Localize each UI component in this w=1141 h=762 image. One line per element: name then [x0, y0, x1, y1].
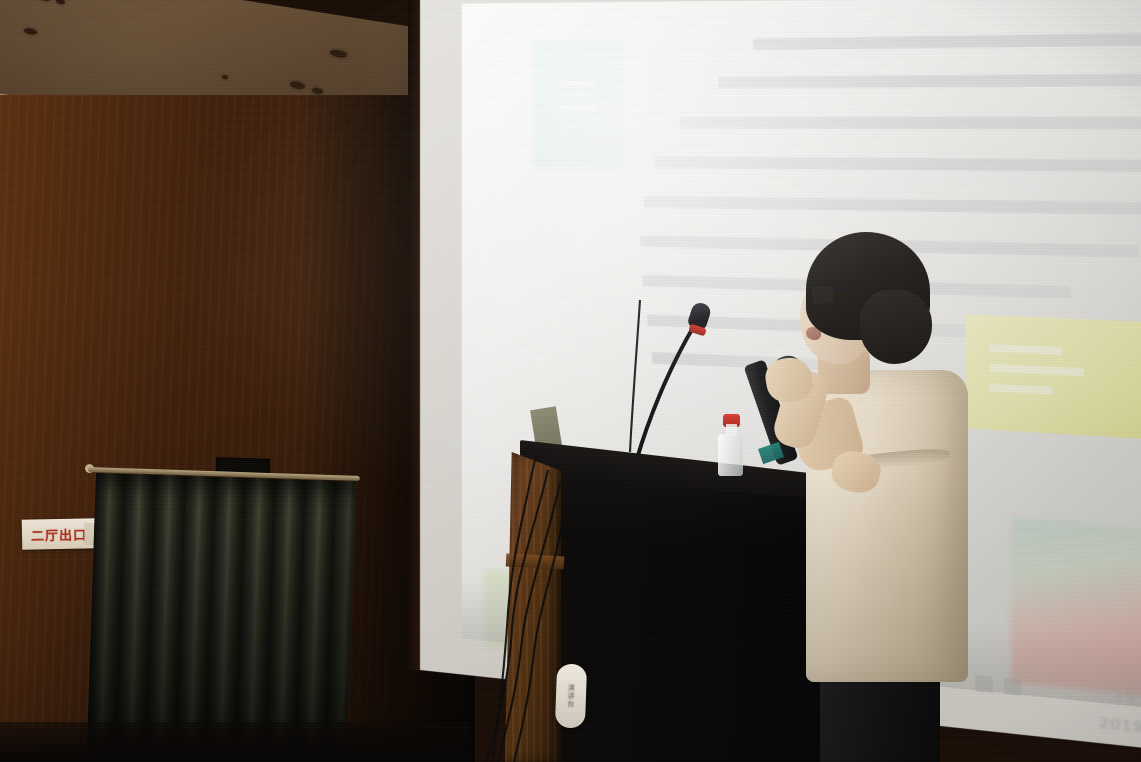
floor-shadow: [0, 722, 470, 762]
slide-text-line: [680, 117, 1141, 130]
slide-yellow-highlight: [966, 314, 1141, 439]
slide-yellow-bar: [989, 384, 1052, 395]
curtain-shading: [86, 473, 355, 762]
lecture-hall-photo: 二厅出口: [0, 0, 1141, 762]
slide-title-badge: [535, 41, 623, 167]
speaker-glasses: [809, 283, 837, 306]
water-bottle: [718, 434, 743, 476]
slide-text-line: [654, 156, 1141, 172]
slide-badge-bar: [562, 93, 591, 98]
podium-emblem-plaque: 演讲台: [555, 663, 587, 728]
podium-emblem-label: 演讲台: [566, 684, 577, 708]
slide-text-line: [753, 32, 1141, 50]
podium-front-panel: [548, 478, 848, 762]
speaker-shirt-shadow: [806, 470, 968, 682]
slide-text-line: [718, 73, 1141, 88]
slide-yellow-bar: [989, 364, 1084, 376]
slide-yellow-bar: [989, 344, 1062, 355]
window-curtain: [86, 473, 355, 762]
podium-left-wood-panel: [505, 452, 561, 762]
slide-footer-date: 2019/9/6: [1060, 706, 1141, 751]
exit-sign-label: 二厅出口: [31, 524, 87, 544]
podium-wood-grain: [505, 452, 561, 762]
slide-badge-bar: [562, 105, 597, 110]
slide-text-line: [644, 196, 1141, 216]
slide-badge-bar: [562, 81, 597, 86]
